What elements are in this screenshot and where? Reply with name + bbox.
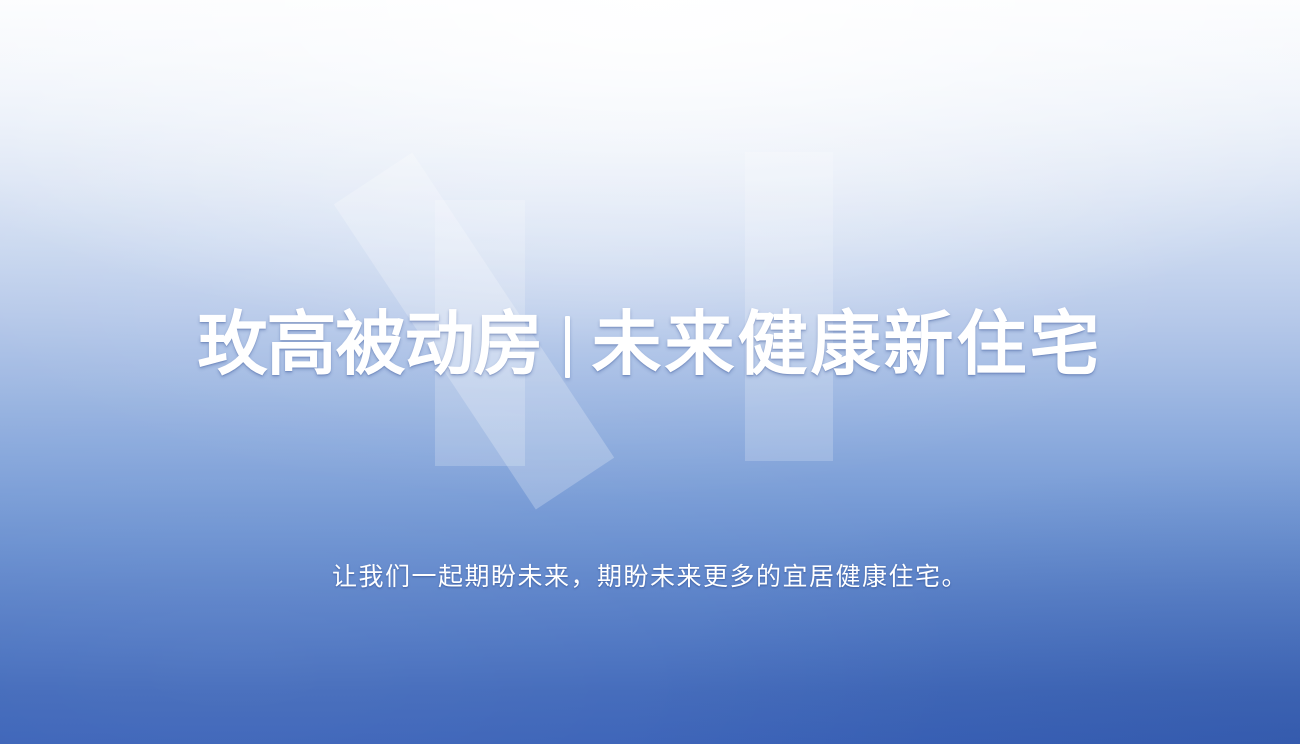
headline-divider (565, 316, 570, 378)
subtitle: 让我们一起期盼未来，期盼未来更多的宜居健康住宅。 (0, 558, 1300, 596)
headline-segment-left: 玫高被动房 (198, 305, 543, 383)
headline: 玫高被动房未来健康新住宅 (0, 296, 1300, 392)
promo-banner-slide: 玫高被动房未来健康新住宅 让我们一起期盼未来，期盼未来更多的宜居健康住宅。 (0, 0, 1300, 744)
slide-content: 玫高被动房未来健康新住宅 让我们一起期盼未来，期盼未来更多的宜居健康住宅。 (0, 0, 1300, 744)
headline-segment-right: 未来健康新住宅 (592, 305, 1103, 383)
